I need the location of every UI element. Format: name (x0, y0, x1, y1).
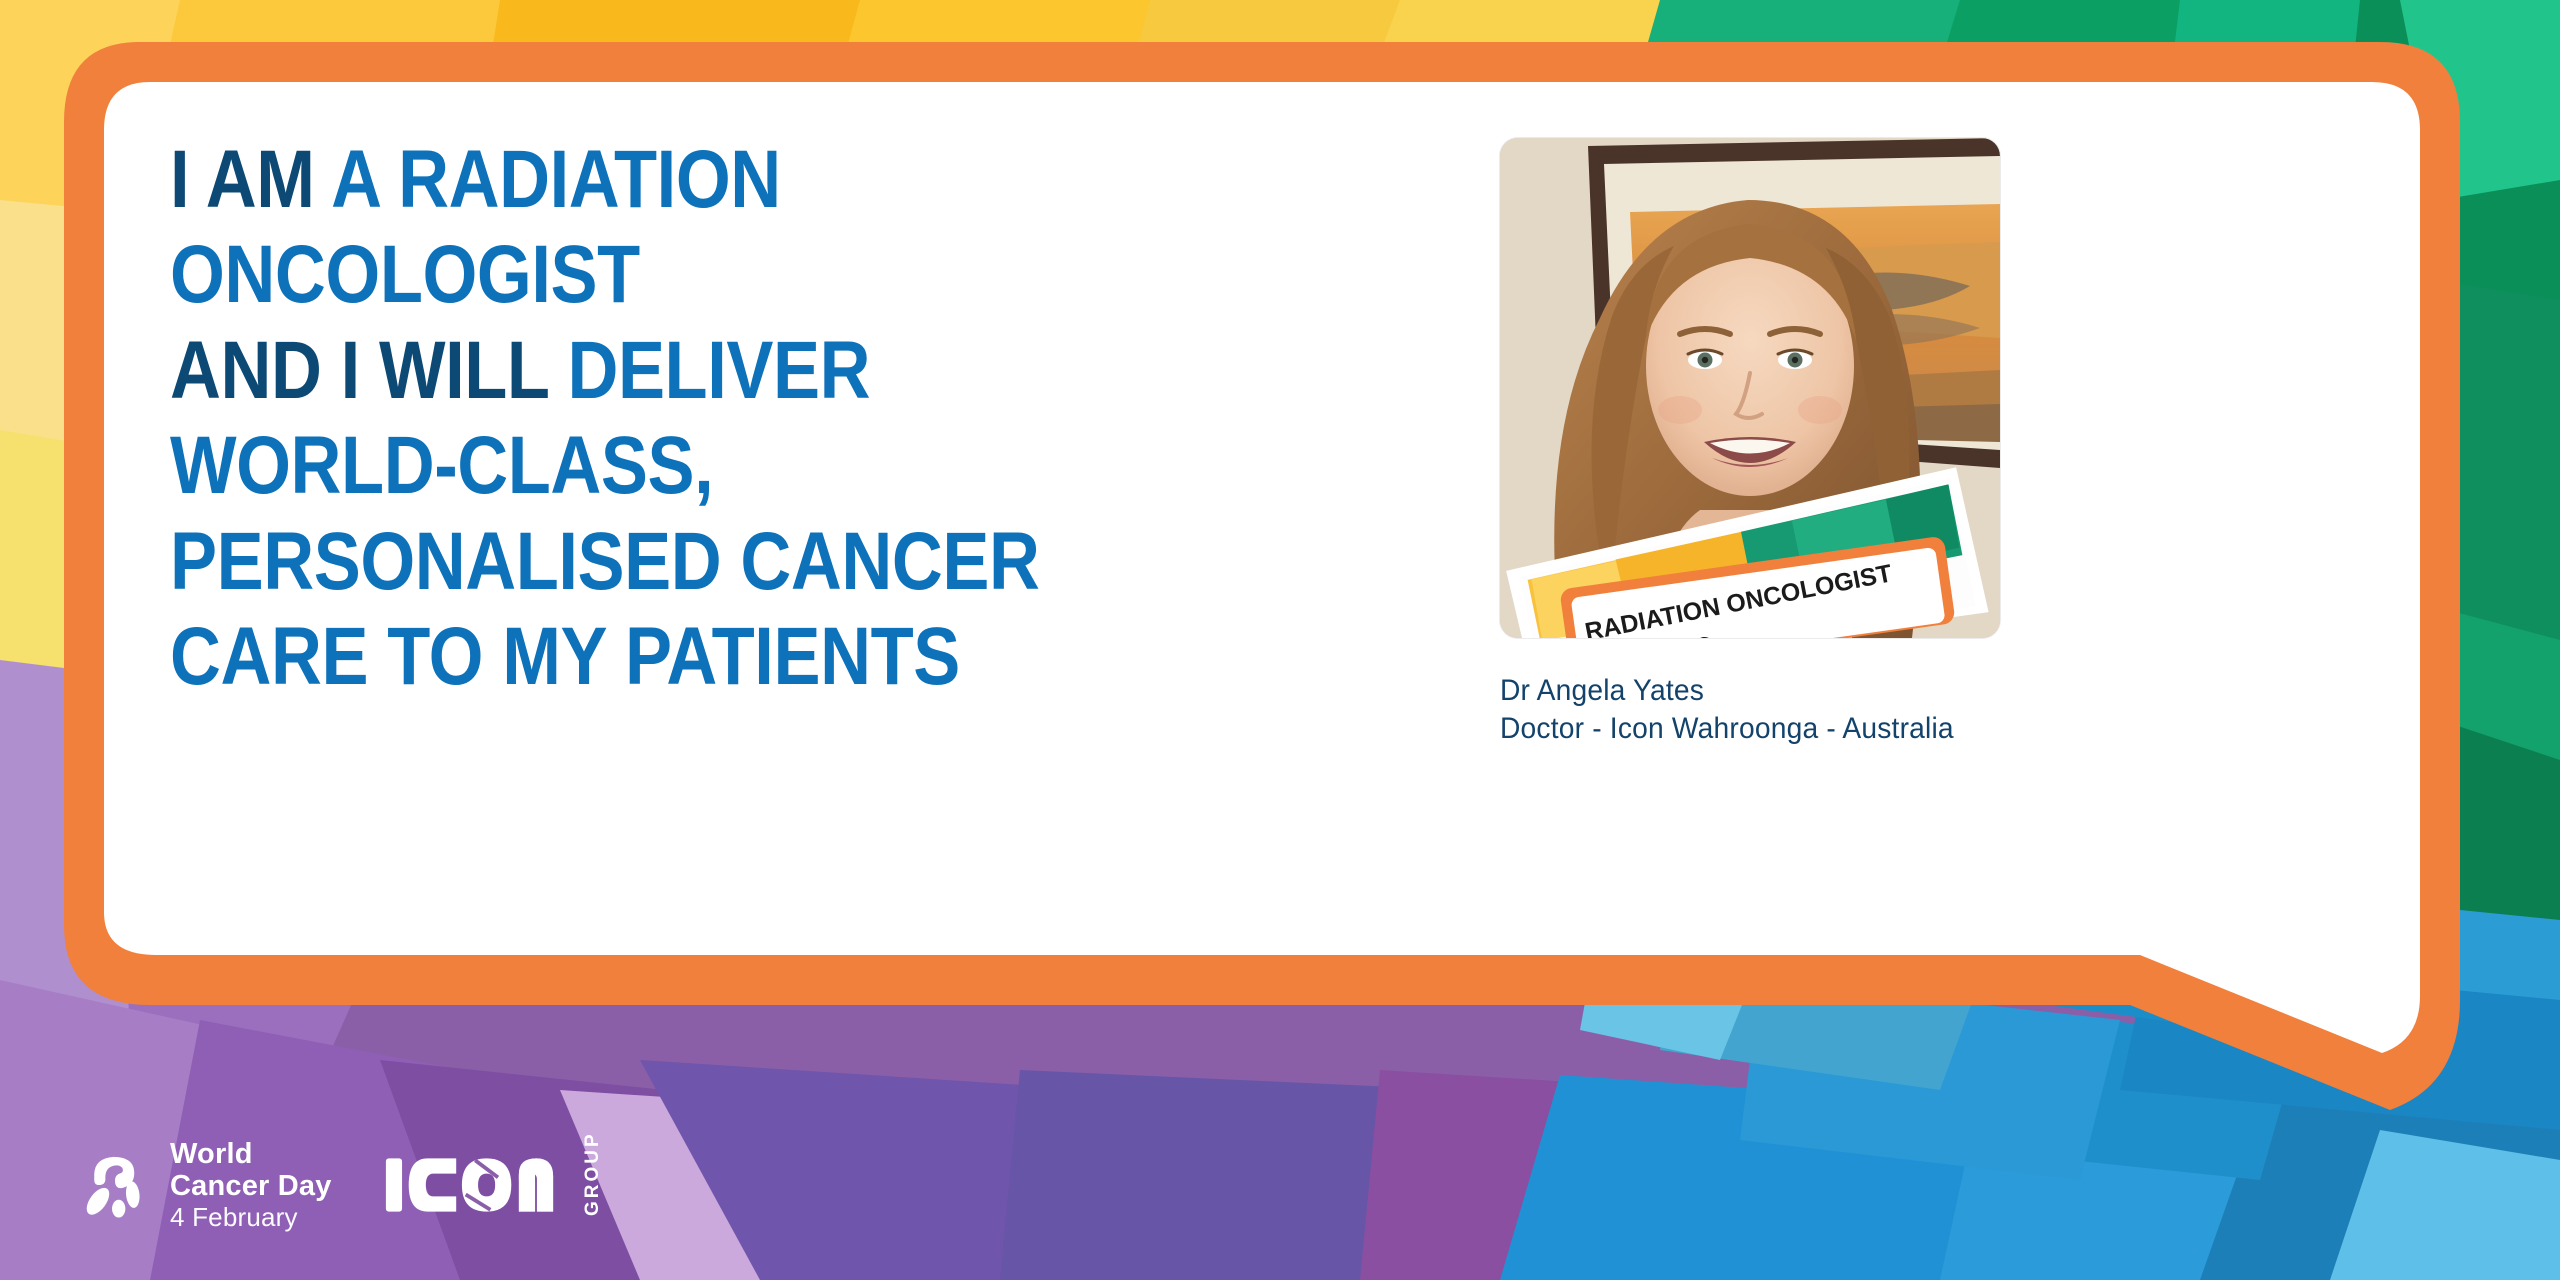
poster-canvas: I AM A RADIATION ONCOLOGIST AND I WILL D… (0, 0, 2560, 1280)
attribution-name: Dr Angela Yates (1500, 672, 1989, 710)
wcd-line-3: 4 February (170, 1203, 332, 1232)
headline-line-2: ONCOLOGIST (170, 233, 1314, 317)
wcd-line-2: Cancer Day (170, 1170, 332, 1202)
headline-line-1: I AM A RADIATION (170, 138, 1314, 222)
headline-seg-bright: PERSONALISED CANCER (170, 516, 1040, 607)
logo-row: World Cancer Day 4 February (78, 1138, 604, 1232)
icon-wordmark (384, 1154, 574, 1216)
headline-seg-bright: DELIVER (567, 325, 870, 416)
icon-group-logo: GROUP (384, 1154, 604, 1216)
attribution-role: Doctor - Icon Wahroonga - Australia (1500, 710, 1989, 748)
headline: I AM A RADIATION ONCOLOGIST AND I WILL D… (170, 138, 1500, 711)
portrait-photo: RADIATION ONCOLOGIST I AM (1500, 138, 2000, 638)
headline-seg-dark: AND I WILL (170, 325, 567, 416)
portrait-column: RADIATION ONCOLOGIST I AM Dr Angela Yate… (1500, 138, 2020, 749)
headline-seg-bright: ONCOLOGIST (170, 229, 640, 320)
attribution: Dr Angela Yates Doctor - Icon Wahroonga … (1500, 672, 1989, 749)
headline-seg-dark: I AM (170, 134, 331, 225)
bubble-content: I AM A RADIATION ONCOLOGIST AND I WILL D… (118, 100, 2438, 980)
icon-group-suffix: GROUP (582, 1154, 604, 1216)
headline-line-5: PERSONALISED CANCER (170, 520, 1314, 604)
headline-seg-bright: CARE TO MY PATIENTS (170, 611, 960, 702)
world-cancer-day-icon (78, 1148, 152, 1222)
wcd-line-1: World (170, 1138, 332, 1170)
headline-seg-bright: A RADIATION (331, 134, 781, 225)
headline-line-4: WORLD-CLASS, (170, 424, 1314, 508)
world-cancer-day-text: World Cancer Day 4 February (170, 1138, 332, 1232)
headline-line-6: CARE TO MY PATIENTS (170, 615, 1314, 699)
headline-line-3: AND I WILL DELIVER (170, 329, 1314, 413)
world-cancer-day-logo: World Cancer Day 4 February (78, 1138, 332, 1232)
headline-seg-bright: WORLD-CLASS, (170, 420, 713, 511)
